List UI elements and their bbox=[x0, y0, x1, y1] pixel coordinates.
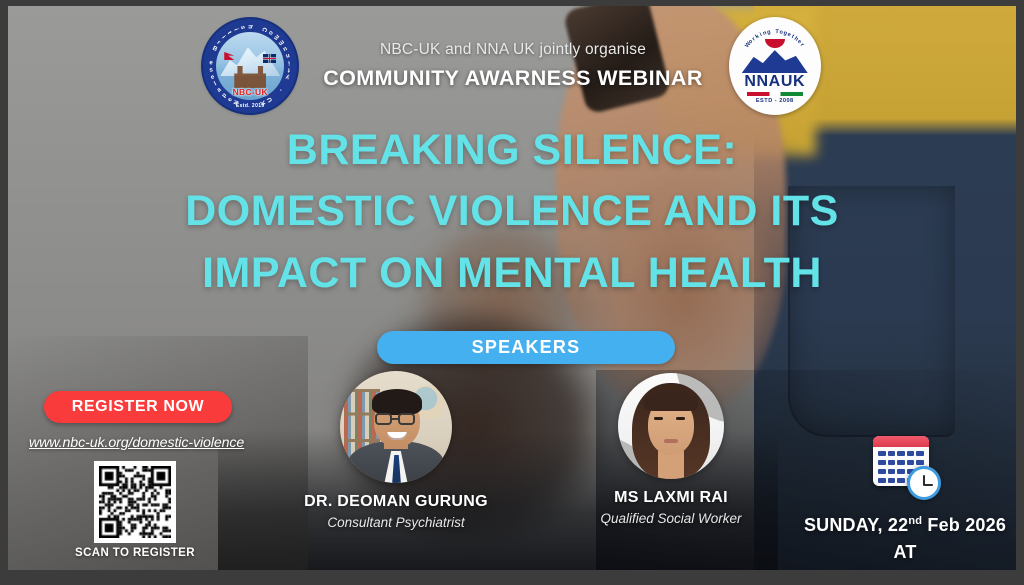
title-line-1: BREAKING SILENCE: bbox=[8, 120, 1016, 181]
eye-shape bbox=[654, 417, 663, 420]
schedule-at-label: AT bbox=[790, 539, 1016, 566]
speaker-1-name: DR. DEOMAN GURUNG bbox=[276, 493, 516, 511]
schedule-day-suffix: nd bbox=[908, 515, 922, 527]
qr-code-icon[interactable] bbox=[94, 461, 176, 543]
poster-title: BREAKING SILENCE: DOMESTIC VIOLENCE AND … bbox=[8, 120, 1016, 304]
nbc-uk-logo-icon: Nepalese British Community - UK NBC-UK E… bbox=[203, 19, 297, 113]
nnauk-logo-stripe bbox=[747, 92, 803, 96]
glasses-icon bbox=[398, 413, 415, 425]
speaker-1-avatar bbox=[340, 371, 452, 483]
speaker-2-avatar bbox=[618, 373, 724, 479]
schedule-time: 11:30 - 13:30 bbox=[790, 566, 1016, 570]
title-line-2: DOMESTIC VIOLENCE AND ITS bbox=[8, 181, 1016, 242]
neck-shape bbox=[658, 451, 684, 479]
header-event-type: COMMUNITY AWARNESS WEBINAR bbox=[323, 66, 703, 91]
poster-header: Nepalese British Community - UK NBC-UK E… bbox=[8, 14, 1016, 118]
glasses-icon bbox=[375, 413, 392, 425]
register-now-button[interactable]: REGISTER NOW bbox=[44, 391, 232, 423]
speaker-card-2: MS LAXMI RAI Qualified Social Worker bbox=[556, 373, 786, 526]
glasses-bridge bbox=[392, 418, 398, 420]
registration-url-link[interactable]: www.nbc-uk.org/domestic-violence bbox=[29, 435, 244, 451]
speaker-2-name: MS LAXMI RAI bbox=[556, 489, 786, 507]
schedule-month-year: Feb 2026 bbox=[922, 515, 1006, 535]
scan-to-register-label: SCAN TO REGISTER bbox=[64, 547, 206, 559]
nnauk-logo-acronym: NNAUK bbox=[729, 73, 821, 91]
speaker-card-1: DR. DEOMAN GURUNG Consultant Psychiatris… bbox=[276, 371, 516, 530]
title-line-3: IMPACT ON MENTAL HEALTH bbox=[8, 243, 1016, 304]
schedule-day: SUNDAY, 22 bbox=[804, 515, 908, 535]
header-organisers-line: NBC-UK and NNA UK jointly organise bbox=[323, 41, 703, 59]
speaker-1-role: Consultant Psychiatrist bbox=[276, 515, 516, 530]
speakers-banner: SPEAKERS bbox=[377, 331, 675, 364]
hair-shape bbox=[372, 389, 422, 415]
qr-code-canvas bbox=[99, 466, 171, 538]
eye-shape bbox=[676, 417, 685, 420]
nbc-uk-logo-established: Estd. 2019 bbox=[203, 103, 297, 109]
speaker-2-role: Qualified Social Worker bbox=[556, 511, 786, 526]
nbc-uk-logo-acronym: NBC-UK bbox=[203, 87, 297, 97]
calendar-header bbox=[873, 436, 929, 447]
clock-icon bbox=[907, 466, 941, 500]
nnauk-logo-icon: Working Together NNAUK ESTD - 2008 bbox=[729, 17, 821, 115]
header-text-block: NBC-UK and NNA UK jointly organise COMMU… bbox=[323, 41, 703, 91]
calendar-clock-icon bbox=[869, 436, 941, 500]
schedule-block: SUNDAY, 22nd Feb 2026 AT 11:30 - 13:30 bbox=[790, 436, 1016, 570]
webinar-poster: Nepalese British Community - UK NBC-UK E… bbox=[8, 6, 1016, 570]
union-jack-icon bbox=[263, 54, 276, 63]
lips-shape bbox=[664, 439, 678, 443]
schedule-date: SUNDAY, 22nd Feb 2026 bbox=[790, 512, 1016, 539]
fringe-shape bbox=[644, 391, 698, 411]
screenshot-frame: Nepalese British Community - UK NBC-UK E… bbox=[0, 0, 1024, 585]
nnauk-logo-established: ESTD - 2008 bbox=[729, 98, 821, 104]
